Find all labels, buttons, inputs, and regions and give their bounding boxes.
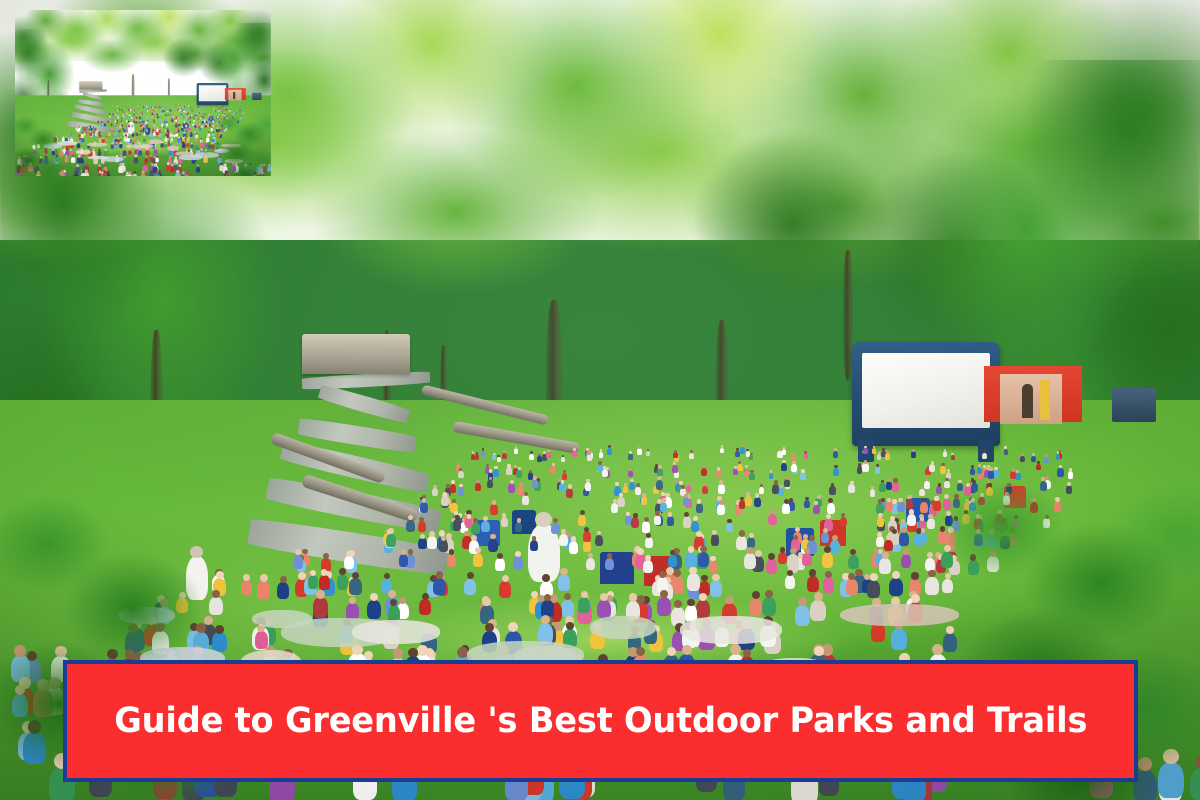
person — [169, 151, 173, 157]
person-head — [150, 155, 152, 157]
person-head — [817, 495, 821, 499]
person — [182, 110, 183, 112]
person-head — [455, 515, 460, 520]
lawn-chair — [200, 117, 202, 120]
person-head — [155, 128, 156, 129]
person-head — [497, 455, 499, 457]
person-head — [179, 136, 181, 138]
lawn-chair — [69, 142, 73, 147]
person-head — [123, 149, 125, 151]
lawn-chair — [140, 124, 143, 127]
person — [127, 145, 130, 149]
person-head — [529, 470, 532, 473]
person-head — [146, 105, 147, 106]
person-head — [232, 163, 235, 166]
person — [157, 173, 162, 176]
person — [204, 106, 205, 107]
person — [701, 468, 707, 476]
person — [136, 116, 138, 118]
person — [685, 552, 696, 568]
person-head — [170, 133, 171, 134]
lawn-chair — [181, 108, 183, 110]
person-head — [249, 163, 251, 165]
person-head — [482, 448, 485, 451]
person-head — [858, 463, 861, 466]
person-head — [167, 162, 170, 165]
person-head — [71, 142, 73, 144]
person — [163, 121, 165, 123]
person — [107, 120, 109, 123]
person-head — [134, 116, 135, 117]
person-head — [202, 120, 203, 121]
person — [136, 132, 139, 136]
person — [218, 121, 220, 124]
thumbnail-inset[interactable] — [15, 10, 271, 176]
person — [97, 120, 99, 122]
person — [766, 559, 777, 574]
person-head — [633, 513, 638, 518]
person-head — [223, 113, 224, 114]
person-head — [183, 132, 185, 134]
person-head — [163, 124, 164, 125]
person-head — [168, 113, 169, 114]
person-head — [187, 141, 189, 143]
person — [149, 133, 152, 136]
person-head — [63, 136, 65, 138]
person-head — [171, 119, 172, 120]
person — [69, 151, 73, 156]
person — [114, 139, 117, 143]
person — [121, 109, 122, 111]
person — [239, 109, 240, 111]
person — [33, 150, 36, 154]
person-head — [951, 453, 953, 455]
person-head — [154, 112, 155, 113]
person-head — [171, 113, 172, 114]
person — [224, 114, 225, 116]
promo-image-card: Guide to Greenville 's Best Outdoor Park… — [0, 0, 1200, 800]
person — [256, 166, 261, 172]
person-head — [420, 534, 425, 539]
person — [628, 470, 633, 477]
person — [143, 133, 145, 136]
person — [925, 577, 938, 595]
person-head — [218, 107, 219, 108]
person-head — [886, 450, 889, 453]
person-head — [183, 110, 184, 111]
person-head — [493, 453, 495, 455]
person — [889, 578, 902, 596]
person-head — [417, 645, 428, 656]
person — [111, 124, 113, 126]
person — [161, 106, 162, 107]
person — [16, 173, 21, 176]
person — [90, 128, 92, 131]
lawn-chair — [231, 113, 233, 115]
person — [194, 125, 196, 128]
person — [181, 144, 184, 149]
person — [848, 484, 855, 493]
person — [128, 150, 131, 154]
person — [174, 116, 175, 118]
person — [179, 137, 182, 141]
person — [929, 464, 935, 472]
person-head — [124, 112, 125, 113]
person — [154, 166, 159, 172]
person — [255, 631, 268, 649]
person — [214, 106, 215, 107]
person-head — [166, 123, 167, 124]
person — [191, 109, 192, 111]
person — [67, 139, 70, 143]
lawn-chair — [202, 155, 208, 163]
person-head — [765, 590, 773, 598]
person — [172, 106, 173, 107]
person-head — [116, 127, 117, 128]
person-head — [142, 112, 143, 113]
person-head — [211, 123, 212, 124]
person-head — [655, 464, 658, 467]
person-head — [798, 597, 807, 606]
person — [151, 106, 152, 108]
person-head — [153, 107, 154, 108]
person-head — [736, 448, 739, 451]
person-head — [196, 113, 197, 114]
person — [81, 151, 85, 156]
picnic-blanket — [102, 156, 124, 161]
person-head — [237, 120, 238, 121]
person-head — [137, 107, 138, 108]
person-head — [533, 476, 537, 480]
person — [367, 600, 381, 619]
person — [153, 125, 155, 128]
person-head — [564, 593, 571, 600]
person-head — [786, 476, 789, 479]
person-head — [126, 112, 127, 113]
person — [162, 110, 163, 112]
person-head — [134, 109, 135, 110]
person-head — [182, 128, 183, 129]
person — [157, 116, 158, 118]
person-head — [178, 138, 180, 140]
person-head — [630, 479, 634, 483]
person — [879, 558, 891, 574]
person-head — [882, 552, 889, 559]
lawn-chair — [140, 128, 143, 132]
person — [176, 128, 178, 131]
person-head — [240, 116, 241, 117]
person-head — [211, 127, 212, 128]
person — [193, 157, 197, 162]
person-head — [154, 124, 155, 125]
person-head — [208, 143, 210, 145]
person-head — [598, 461, 601, 464]
person — [179, 138, 182, 142]
thumbnail-inset-content — [15, 10, 271, 176]
person-head — [476, 480, 479, 483]
person-head — [103, 170, 106, 173]
person — [219, 120, 221, 123]
person-head — [155, 109, 156, 110]
person — [163, 111, 164, 112]
person-head — [850, 481, 854, 485]
person-head — [920, 517, 924, 521]
person-head — [191, 143, 193, 145]
person — [230, 121, 231, 123]
person — [121, 117, 122, 119]
person — [131, 117, 133, 119]
person-head — [679, 481, 683, 485]
person — [458, 487, 465, 496]
person — [53, 138, 56, 142]
person-head — [179, 155, 182, 158]
person-head — [636, 483, 640, 487]
person — [517, 486, 524, 495]
person — [153, 158, 157, 164]
person-head — [192, 109, 193, 110]
person-head — [133, 171, 136, 174]
person — [105, 173, 110, 176]
person-head — [642, 493, 646, 497]
lawn-chair — [237, 120, 239, 123]
person — [143, 121, 145, 123]
person — [759, 487, 765, 495]
person — [232, 116, 233, 118]
person-head — [141, 127, 143, 129]
person — [102, 173, 107, 176]
person — [877, 517, 884, 527]
person — [212, 120, 214, 122]
person — [277, 582, 289, 598]
person-head — [126, 126, 128, 128]
person-head — [826, 514, 831, 519]
person — [562, 473, 567, 480]
person — [91, 128, 93, 131]
person — [800, 472, 806, 480]
person-head — [175, 143, 177, 145]
page-title: Guide to Greenville 's Best Outdoor Park… — [114, 704, 1087, 739]
person — [152, 116, 154, 118]
person — [93, 143, 96, 147]
person-head — [110, 115, 111, 116]
person — [194, 145, 197, 149]
person-head — [126, 106, 127, 107]
lawn-chair — [97, 149, 102, 155]
person-head — [219, 127, 220, 128]
person-head — [162, 123, 163, 124]
person — [188, 128, 190, 131]
person — [178, 138, 181, 142]
person — [846, 579, 858, 595]
person-head — [144, 105, 145, 106]
person-head — [155, 163, 158, 166]
person-head — [114, 124, 115, 125]
person — [709, 561, 718, 573]
person-head — [197, 123, 198, 124]
person — [216, 117, 217, 119]
person-head — [316, 590, 325, 599]
person — [166, 134, 169, 138]
person-head — [243, 574, 250, 581]
person — [126, 113, 127, 115]
person — [79, 138, 82, 142]
person-head — [126, 172, 129, 175]
person — [125, 134, 127, 137]
person-head — [712, 574, 719, 581]
person-head — [224, 128, 225, 129]
person-head — [176, 105, 177, 106]
person-head — [146, 115, 147, 116]
person — [86, 128, 88, 131]
inflatable-movie-screen — [197, 83, 229, 105]
person-head — [175, 124, 176, 125]
person-head — [243, 113, 244, 114]
person — [54, 138, 57, 142]
person-head — [120, 142, 122, 144]
person — [875, 466, 880, 473]
person-head — [696, 531, 702, 537]
person — [170, 110, 171, 111]
lawn-chair — [20, 165, 26, 173]
person — [219, 134, 222, 138]
person-head — [83, 164, 85, 166]
person-head — [197, 106, 198, 107]
person — [134, 109, 135, 111]
person-head — [200, 126, 201, 127]
person-head — [218, 155, 220, 157]
person — [159, 133, 162, 137]
picnic-blanket — [215, 149, 230, 153]
person — [231, 110, 232, 111]
person — [182, 129, 184, 132]
person-head — [892, 571, 900, 579]
person — [143, 107, 144, 108]
person-head — [188, 112, 189, 113]
person-head — [154, 109, 155, 110]
person — [116, 122, 118, 124]
person — [36, 174, 41, 176]
person — [78, 128, 80, 131]
person-head — [156, 155, 158, 157]
person — [720, 448, 724, 454]
person — [133, 139, 136, 142]
person — [162, 110, 163, 111]
person-head — [193, 110, 194, 111]
person-head — [17, 170, 20, 173]
person — [906, 499, 913, 509]
person — [187, 151, 191, 156]
person-head — [218, 116, 219, 117]
person-head — [560, 568, 567, 575]
person-head — [203, 115, 204, 116]
person-head — [190, 121, 191, 122]
person — [117, 109, 118, 111]
person — [911, 451, 916, 458]
person-head — [184, 120, 185, 121]
person — [112, 113, 113, 115]
person — [1004, 449, 1009, 455]
person-head — [206, 143, 208, 145]
person-head — [134, 138, 135, 139]
person — [159, 107, 160, 108]
person-head — [159, 115, 160, 116]
person — [33, 145, 36, 149]
person — [202, 116, 204, 118]
lawn-chair — [186, 142, 190, 147]
person — [587, 454, 592, 461]
person — [177, 138, 179, 141]
person-head — [170, 142, 172, 144]
person-head — [139, 148, 141, 150]
person — [227, 117, 229, 119]
person-head — [136, 113, 137, 114]
person-head — [66, 143, 68, 145]
person-head — [190, 133, 191, 134]
person-head — [129, 109, 130, 110]
person — [123, 116, 125, 118]
person — [830, 540, 840, 554]
person — [203, 157, 207, 162]
person — [867, 580, 880, 598]
person-head — [197, 148, 199, 150]
person — [182, 128, 184, 131]
picnic-blanket — [225, 159, 244, 163]
person — [177, 118, 179, 120]
person-head — [151, 106, 152, 107]
person-head — [145, 107, 146, 108]
person — [60, 173, 65, 176]
lawn-chair — [127, 144, 131, 149]
person-head — [768, 553, 775, 560]
person — [267, 166, 271, 171]
person-head — [801, 469, 804, 472]
person-head — [153, 133, 154, 134]
person — [137, 107, 138, 108]
person-head — [18, 157, 20, 159]
person — [162, 107, 163, 108]
person — [178, 129, 180, 132]
person — [21, 166, 26, 172]
person-head — [243, 113, 244, 114]
person-head — [164, 113, 165, 114]
person-head — [510, 480, 514, 484]
person-head — [208, 116, 209, 117]
person — [210, 117, 212, 119]
person — [194, 107, 195, 108]
person-head — [111, 128, 112, 129]
person-head — [201, 141, 203, 143]
person-head — [79, 133, 80, 134]
person — [164, 138, 167, 142]
person-head — [192, 156, 194, 158]
person — [154, 150, 158, 155]
person — [623, 486, 629, 494]
person — [126, 139, 129, 143]
seated-crowd — [15, 10, 271, 176]
person-head — [153, 143, 155, 145]
person — [65, 150, 69, 156]
person-head — [141, 115, 142, 116]
person — [167, 114, 169, 116]
person-head — [163, 105, 164, 106]
person — [203, 157, 208, 163]
person-head — [217, 142, 219, 144]
person — [744, 470, 749, 477]
person-head — [89, 124, 90, 125]
person — [206, 120, 207, 122]
person-head — [580, 510, 585, 515]
person — [253, 174, 258, 176]
